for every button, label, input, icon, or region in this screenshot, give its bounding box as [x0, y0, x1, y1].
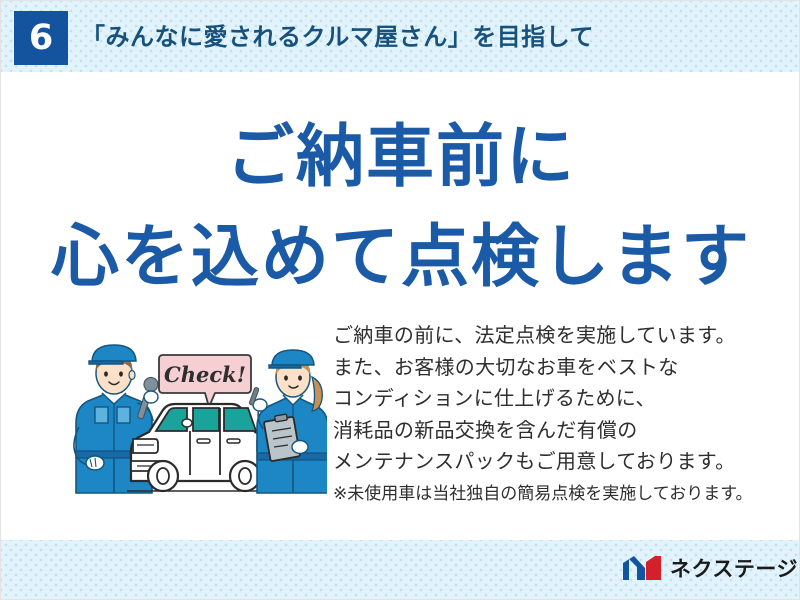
nextage-n-mark-icon — [622, 555, 662, 581]
header-title: 「みんなに愛されるクルマ屋さん」を目指して — [81, 21, 594, 55]
body-line-3: コンディションに仕上げるために、 — [333, 384, 773, 416]
nextage-logo-text: ネクステージ — [670, 553, 798, 583]
clipboard-icon — [264, 414, 300, 461]
illustration-svg: Check! — [59, 335, 327, 501]
section-number-badge: 6 — [14, 11, 68, 65]
body-line-5: メンテナンスパックもご用意しております。 — [333, 447, 773, 479]
body-copy: ご納車の前に、法定点検を実施しています。 また、お客様の大切なお車をベストな コ… — [333, 321, 773, 509]
nextage-logo: ネクステージ — [622, 553, 798, 583]
mechanics-and-car-illustration: Check! — [59, 335, 327, 501]
headline-line-2: 心を込めて点検します — [1, 219, 800, 297]
body-line-2: また、お客様の大切なお車をベストな — [333, 353, 773, 385]
mechanic-right — [249, 350, 327, 493]
speech-bubble-label: Check! — [164, 362, 246, 387]
body-line-4: 消耗品の新品交換を含んだ有償の — [333, 416, 773, 448]
body-note: ※未使用車は当社独自の簡易点検を実施しております。 — [333, 479, 773, 509]
check-speech-bubble: Check! — [159, 355, 251, 407]
headline-line-1: ご納車前に — [1, 119, 800, 197]
body-line-1: ご納車の前に、法定点検を実施しています。 — [333, 321, 773, 353]
promo-banner: 6 「みんなに愛されるクルマ屋さん」を目指して ご納車前に 心を込めて点検します — [0, 0, 800, 600]
